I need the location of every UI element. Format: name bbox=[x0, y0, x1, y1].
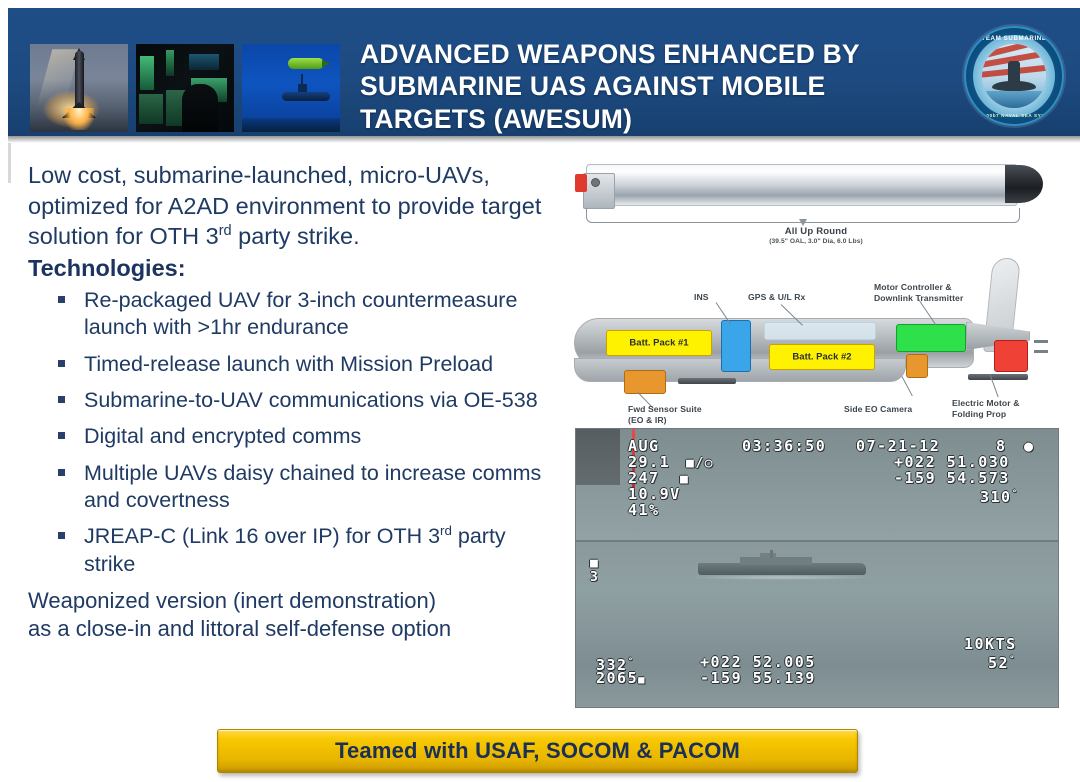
osd-altitude: 2065■ bbox=[596, 671, 646, 688]
side-eo-camera-box bbox=[906, 354, 928, 378]
video-horizon-line bbox=[576, 540, 1058, 542]
seal-top-text: TEAM SUBMARINE bbox=[966, 35, 1062, 42]
bullet-ordinal-suffix: rd bbox=[440, 523, 452, 538]
header-shadow bbox=[8, 136, 1080, 143]
teaming-banner-text: Teamed with USAF, SOCOM & PACOM bbox=[335, 738, 740, 764]
osd-altitude-value: 2065 bbox=[596, 669, 638, 687]
osd-longitude-top: -159 54.573 bbox=[894, 471, 1010, 486]
uav-video-feed-panel: AUG 29.1 ■/○ 247 ■ 10.9V 41% 03:36:50 07… bbox=[575, 428, 1059, 708]
osd-scale-marker: ■ bbox=[590, 557, 599, 571]
bullet-text: Submarine-to-UAV communications via OE-5… bbox=[84, 388, 538, 412]
list-item: Timed-release launch with Mission Preloa… bbox=[58, 351, 548, 378]
slide-root: ADVANCED WEAPONS ENHANCED BY SUBMARINE U… bbox=[0, 0, 1080, 782]
osd-speed: 10KTS bbox=[964, 637, 1017, 652]
list-item: Submarine-to-UAV communications via OE-5… bbox=[58, 387, 548, 414]
osd-heading-top-value: 310 bbox=[980, 488, 1012, 506]
motor-controller-annotation-line1: Motor Controller & bbox=[874, 282, 963, 293]
osd-altitude-unit: ■ bbox=[638, 674, 646, 686]
video-corner-shade bbox=[576, 429, 620, 485]
teaming-banner: Teamed with USAF, SOCOM & PACOM bbox=[217, 729, 858, 773]
control-room-photo bbox=[136, 44, 234, 132]
console-screen bbox=[139, 94, 163, 124]
technologies-heading: Technologies: bbox=[28, 253, 548, 284]
osd-speed-heading: 52° bbox=[988, 653, 1016, 671]
left-margin bbox=[0, 0, 8, 782]
seal-inner-disc bbox=[982, 44, 1046, 108]
operator-silhouette bbox=[182, 84, 218, 132]
leader-line-side-eo bbox=[902, 376, 913, 396]
side-eo-annotation: Side EO Camera bbox=[844, 404, 912, 415]
motor-controller-box bbox=[896, 324, 966, 352]
ship-wake bbox=[686, 575, 876, 580]
fwd-sensor-suite-box bbox=[624, 370, 666, 394]
submarine-hull bbox=[282, 92, 330, 101]
underwater-uuv-photo bbox=[242, 44, 340, 132]
all-up-round-caption: All Up Round (39.5" OAL, 3.0" Dia, 6.0 L… bbox=[566, 226, 1066, 245]
canister-port bbox=[591, 178, 600, 187]
osd-speed-heading-value: 52 bbox=[988, 654, 1009, 672]
osd-battery-percent: 41% bbox=[628, 503, 660, 518]
osd-unit-symbol: ■/○ bbox=[686, 457, 714, 471]
closing-line-2: as a close-in and littoral self-defense … bbox=[28, 615, 548, 644]
uav-cutaway-diagram: Batt. Pack #1 Batt. Pack #2 INS GPS & U/… bbox=[566, 262, 1066, 422]
list-item: JREAP-C (Link 16 over IP) for OTH 3rd pa… bbox=[58, 523, 548, 578]
osd-bearing-bottom-degree: ° bbox=[628, 657, 635, 667]
gps-annotation: GPS & U/L Rx bbox=[748, 292, 805, 303]
osd-speed-heading-degree: ° bbox=[1009, 655, 1016, 665]
mount-rail bbox=[678, 378, 736, 384]
electric-motor-box bbox=[994, 340, 1028, 372]
ship-mast bbox=[770, 550, 773, 558]
submarine-hull-icon bbox=[992, 81, 1036, 91]
osd-longitude-bottom: -159 55.139 bbox=[700, 671, 816, 686]
osd-date: 07-21-12 bbox=[856, 439, 940, 454]
fwd-sensor-annotation-line1: Fwd Sensor Suite bbox=[628, 404, 702, 415]
page-title: ADVANCED WEAPONS ENHANCED BY SUBMARINE U… bbox=[360, 38, 940, 135]
canister-nose-cone bbox=[1005, 165, 1043, 203]
osd-timestamp: 03:36:50 bbox=[742, 439, 826, 454]
osd-satellite-count: 8 bbox=[996, 439, 1007, 454]
osd-status-dot: ● bbox=[1024, 439, 1035, 454]
motor-controller-annotation: Motor Controller & Downlink Transmitter bbox=[874, 282, 963, 303]
osd-scale-value: 3 bbox=[590, 571, 599, 585]
ins-module-box bbox=[721, 320, 751, 372]
top-margin bbox=[0, 0, 1080, 8]
lead-text-part2: party strike. bbox=[232, 223, 360, 249]
canister-red-tab bbox=[575, 174, 587, 192]
bullet-text: Multiple UAVs daisy chained to increase … bbox=[84, 461, 541, 512]
list-item: Multiple UAVs daisy chained to increase … bbox=[58, 460, 548, 515]
seal-bottom-text: PEO \u00b7 NAVAL SEA SYSTEMS bbox=[966, 113, 1062, 118]
ship-superstructure bbox=[740, 557, 812, 565]
osd-temperature: 29.1 bbox=[628, 455, 670, 470]
fwd-sensor-annotation-line2: (EO & IR) bbox=[628, 415, 702, 426]
motor-controller-annotation-line2: Downlink Transmitter bbox=[874, 293, 963, 304]
battery-pack-1-box: Batt. Pack #1 bbox=[606, 330, 712, 356]
bullet-text-part1: JREAP-C (Link 16 over IP) for OTH 3 bbox=[84, 524, 440, 548]
left-rule bbox=[8, 143, 11, 183]
team-submarine-seal-logo: TEAM SUBMARINE PEO \u00b7 NAVAL SEA SYST… bbox=[964, 26, 1064, 126]
content-left-column: Low cost, submarine-launched, micro-UAVs… bbox=[28, 160, 548, 644]
missile-launch-photo bbox=[30, 44, 128, 132]
content-right-column: All Up Round (39.5" OAL, 3.0" Dia, 6.0 L… bbox=[566, 150, 1066, 422]
all-up-round-spec: (39.5" OAL, 3.0" Dia, 6.0 Lbs) bbox=[566, 238, 1066, 245]
osd-bearing-unit: ■ bbox=[680, 473, 689, 487]
gps-uplink-receiver-box bbox=[764, 322, 876, 340]
seal-water bbox=[982, 91, 1046, 108]
closing-paragraph: Weaponized version (inert demonstration)… bbox=[28, 587, 548, 644]
all-up-round-label: All Up Round bbox=[566, 226, 1066, 237]
list-item: Re-packaged UAV for 3-inch countermeasur… bbox=[58, 287, 548, 342]
seafloor bbox=[242, 118, 340, 132]
battery-pack-1-label: Batt. Pack #1 bbox=[607, 338, 711, 349]
slide-header: ADVANCED WEAPONS ENHANCED BY SUBMARINE U… bbox=[8, 8, 1080, 136]
bullet-text: Re-packaged UAV for 3-inch countermeasur… bbox=[84, 288, 517, 339]
closing-line-1: Weaponized version (inert demonstration) bbox=[28, 587, 548, 616]
osd-latitude-top: +022 51.030 bbox=[894, 455, 1010, 470]
target-ship bbox=[698, 553, 866, 575]
osd-voltage: 10.9V bbox=[628, 487, 681, 502]
electric-motor-annotation: Electric Motor & Folding Prop bbox=[952, 398, 1020, 419]
ship-bridge bbox=[760, 553, 776, 558]
osd-latitude-bottom: +022 52.005 bbox=[700, 655, 816, 670]
bullet-text: Timed-release launch with Mission Preloa… bbox=[84, 352, 493, 376]
console-screen bbox=[189, 54, 219, 70]
console-screen bbox=[166, 50, 174, 76]
osd-month: AUG bbox=[628, 439, 660, 454]
ins-annotation: INS bbox=[694, 292, 709, 303]
dimension-brace bbox=[586, 208, 1020, 223]
technologies-bullet-list: Re-packaged UAV for 3-inch countermeasur… bbox=[28, 287, 548, 578]
folding-prop-blade bbox=[1034, 350, 1048, 353]
electric-motor-annotation-line2: Folding Prop bbox=[952, 409, 1020, 420]
fwd-sensor-annotation: Fwd Sensor Suite (EO & IR) bbox=[628, 404, 702, 425]
all-up-round-diagram: All Up Round (39.5" OAL, 3.0" Dia, 6.0 L… bbox=[566, 150, 1066, 260]
canister-tail-cap bbox=[583, 173, 615, 209]
osd-bearing-top: 247 bbox=[628, 471, 660, 486]
lead-ordinal-suffix: rd bbox=[219, 223, 232, 239]
battery-pack-2-box: Batt. Pack #2 bbox=[769, 344, 875, 370]
mount-rail bbox=[968, 374, 1028, 380]
lead-paragraph: Low cost, submarine-launched, micro-UAVs… bbox=[28, 160, 548, 252]
electric-motor-annotation-line1: Electric Motor & bbox=[952, 398, 1020, 409]
canister-body bbox=[586, 164, 1018, 206]
osd-heading-top: 310° bbox=[980, 487, 1019, 505]
bullet-text: Digital and encrypted comms bbox=[84, 424, 361, 448]
missile-plume bbox=[64, 108, 94, 130]
battery-pack-2-label: Batt. Pack #2 bbox=[770, 352, 874, 363]
folding-prop-blade bbox=[1034, 340, 1048, 343]
console-screen bbox=[140, 56, 154, 90]
uuv-vehicle bbox=[288, 58, 324, 69]
header-thumbnail-strip bbox=[30, 44, 340, 132]
list-item: Digital and encrypted comms bbox=[58, 423, 548, 450]
osd-heading-top-degree: ° bbox=[1012, 489, 1019, 499]
